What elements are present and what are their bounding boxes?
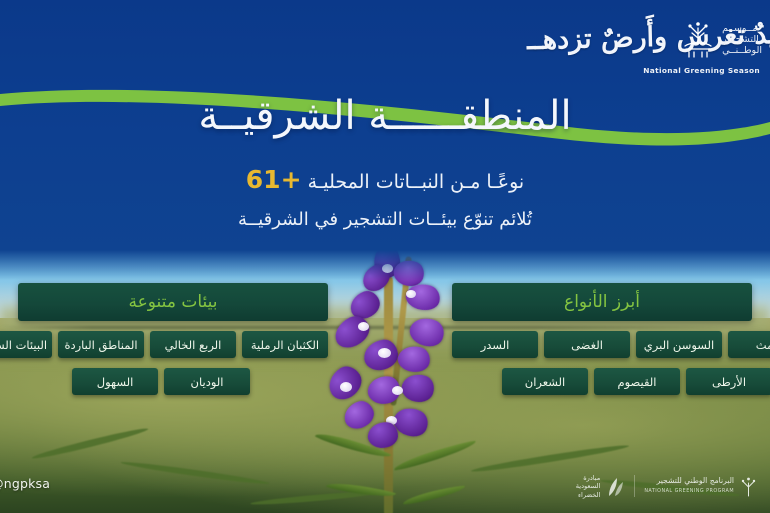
chip-species[interactable]: الغضى — [544, 331, 630, 358]
chip-species[interactable]: الرمث — [728, 331, 770, 358]
chip-species[interactable]: القيصوم — [594, 368, 680, 395]
environments-chip-row-2: الوديان السهول — [18, 368, 328, 395]
chip-environment[interactable]: السهول — [72, 368, 158, 395]
logo-english-text: National Greening Season — [643, 66, 760, 75]
logo-arabic-line-3: الوطــنــي — [722, 46, 762, 56]
logo-arabic-line-2: التشجـيـر — [722, 35, 759, 45]
flower-highlight — [392, 386, 403, 395]
sgi-line-1: مبادرة — [583, 474, 600, 483]
stat-number: +61 — [246, 165, 302, 194]
chip-environment[interactable]: الربع الخالي — [150, 331, 236, 358]
stat-line: نوعًـا مـن النبــاتات المحليـة +61 — [0, 167, 770, 195]
flower-leaf — [392, 439, 477, 471]
species-chip-row-1: الرمث السوسن البري الغضى السدر — [452, 331, 752, 358]
logo-arabic-line-1: مــوســم — [722, 24, 757, 34]
chip-species[interactable]: الشعران — [502, 368, 588, 395]
social-handle: @ngpksa — [0, 476, 50, 491]
flower-highlight — [358, 322, 369, 331]
species-chip-row-2: الأرطى القيصوم الشعران — [452, 368, 752, 395]
saudi-green-initiative-logo: مبادرة السعودية الخضراء — [576, 474, 626, 500]
flower-leaf — [402, 484, 466, 505]
logo-arabic-lines: مــوســم التشجـيـر الوطــنــي — [722, 24, 762, 56]
flower-petal — [398, 369, 438, 406]
environments-chip-row-1: الكثبان الرملية الربع الخالي المناطق الب… — [18, 331, 328, 358]
panel-species-heading: أبرز الأنواع — [452, 283, 752, 321]
sgi-line-2: السعودية — [576, 482, 601, 491]
green-leaves-icon — [605, 474, 625, 498]
flower-highlight — [378, 348, 391, 358]
chip-species[interactable]: السوسن البري — [636, 331, 722, 358]
panel-environments: بيئات متنوعة الكثبان الرملية الربع الخال… — [18, 283, 328, 395]
national-greening-season-logo: مــوســم التشجـيـر الوطــنــي — [681, 18, 762, 62]
chip-species[interactable]: الأرطى — [686, 368, 770, 395]
ngp-arabic: البرنامج الوطني للتشجير — [657, 477, 734, 485]
chip-species[interactable]: السدر — [452, 331, 538, 358]
tree-and-hand-icon — [681, 18, 715, 62]
flower-petal — [367, 421, 399, 449]
sgi-text: مبادرة السعودية الخضراء — [576, 474, 601, 500]
panel-species: أبرز الأنواع الرمث السوسن البري الغضى ال… — [452, 283, 752, 395]
national-greening-program-logo: البرنامج الوطني للتشجير NATIONAL GREENIN… — [644, 474, 758, 498]
subtitle: تُلائم تنوّع بيئــات التشجير في الشرقيــ… — [0, 207, 770, 233]
chip-environment[interactable]: البيئات الساحلية — [0, 331, 52, 358]
flower-highlight — [406, 290, 416, 298]
program-tree-icon — [739, 474, 758, 498]
ngp-english: NATIONAL GREENING PROGRAM — [644, 487, 734, 495]
flower-highlight — [340, 382, 352, 392]
panel-environments-heading: بيئات متنوعة — [18, 283, 328, 321]
logo-divider — [634, 475, 635, 497]
infographic-canvas: يدٌ تغرس وأَرضٌ تزدهــ مــوســم التشجـيـ… — [0, 0, 770, 513]
chip-environment[interactable]: الوديان — [164, 368, 250, 395]
chip-environment[interactable]: الكثبان الرملية — [242, 331, 328, 358]
sgi-line-3: الخضراء — [578, 491, 600, 500]
chip-environment[interactable]: المناطق الباردة — [58, 331, 144, 358]
footer-logos: مبادرة السعودية الخضراء البرنامج الوطني … — [576, 474, 758, 500]
stat-text: نوعًـا مـن النبــاتات المحليـة — [308, 171, 525, 193]
ngp-text: البرنامج الوطني للتشجير NATIONAL GREENIN… — [644, 477, 734, 495]
blue-overlay-fade — [0, 250, 770, 280]
page-title: المنطقــــــة الشرقيــة — [0, 93, 770, 139]
